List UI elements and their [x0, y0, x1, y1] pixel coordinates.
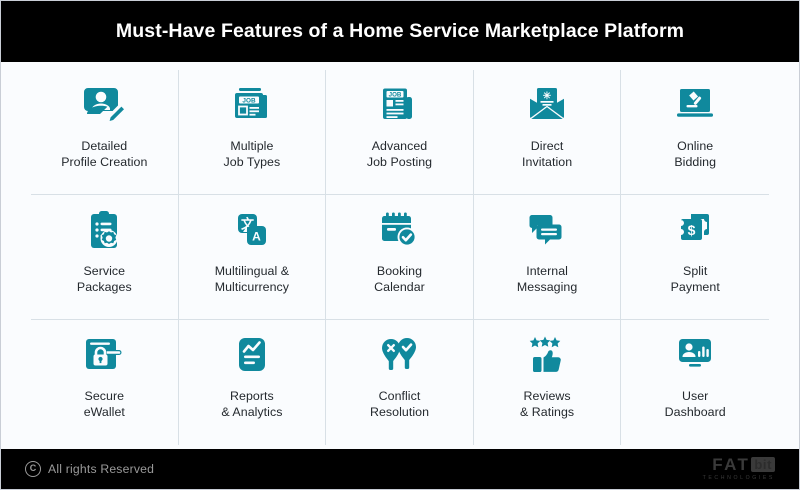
- job-newspaper-icon: JOB: [230, 80, 274, 132]
- feature-cell-internal-messaging[interactable]: Internal Messaging: [474, 195, 622, 320]
- feature-label: Service Packages: [77, 264, 132, 295]
- feature-label: Online Bidding: [674, 139, 716, 170]
- copyright-text: All rights Reserved: [48, 462, 154, 476]
- feature-cell-reviews-ratings[interactable]: Reviews & Ratings: [474, 320, 622, 445]
- page-title: Must-Have Features of a Home Service Mar…: [116, 20, 684, 43]
- invitation-envelope-icon: ✳: [525, 80, 569, 132]
- translate-language-icon: 文 A: [230, 205, 274, 257]
- calendar-check-icon: [376, 205, 422, 257]
- feature-label: Secure eWallet: [84, 389, 125, 420]
- clipboard-gear-icon: [84, 205, 124, 257]
- feature-cell-split-payment[interactable]: $ Split Payment: [621, 195, 769, 320]
- svg-text:A: A: [252, 230, 261, 244]
- poster-header: Must-Have Features of a Home Service Mar…: [1, 1, 799, 62]
- brand-logo-tagline: TECHNOLOGIES: [703, 476, 775, 481]
- copyright-icon: C: [25, 461, 41, 477]
- split-money-cards-icon: $: [673, 205, 717, 257]
- brand-logo-bit: bit: [751, 457, 775, 472]
- feature-label: Split Payment: [671, 264, 720, 295]
- brand-logo-main: FAT bit: [712, 456, 775, 473]
- copyright: C All rights Reserved: [25, 461, 154, 477]
- poster-footer: C All rights Reserved FAT bit TECHNOLOGI…: [1, 449, 799, 489]
- stars-thumbsup-icon: [523, 330, 571, 382]
- feature-cell-reports-analytics[interactable]: Reports & Analytics: [179, 320, 327, 445]
- profile-person-square-pencil-icon: [82, 80, 126, 132]
- svg-text:✳: ✳: [543, 91, 552, 102]
- feature-label: Multilingual & Multicurrency: [215, 264, 289, 295]
- svg-text:JOB: JOB: [389, 92, 402, 99]
- features-grid: Detailed Profile Creation JOB: [31, 70, 769, 445]
- feature-cell-booking-calendar[interactable]: Booking Calendar: [326, 195, 474, 320]
- brand-logo-fat: FAT: [712, 456, 750, 473]
- feature-label: Multiple Job Types: [224, 139, 281, 170]
- laptop-gavel-icon: [672, 80, 718, 132]
- monitor-user-dashboard-icon: [672, 330, 718, 382]
- feature-cell-online-bidding[interactable]: Online Bidding: [621, 70, 769, 195]
- conflict-markers-icon: [376, 330, 422, 382]
- feature-cell-multiple-job-types[interactable]: JOB Multiple Job Types: [179, 70, 327, 195]
- brand-logo: FAT bit TECHNOLOGIES: [703, 456, 775, 481]
- feature-cell-secure-ewallet[interactable]: Secure eWallet: [31, 320, 179, 445]
- feature-cell-user-dashboard[interactable]: User Dashboard: [621, 320, 769, 445]
- feature-cell-detailed-profile-creation[interactable]: Detailed Profile Creation: [31, 70, 179, 195]
- feature-cell-direct-invitation[interactable]: ✳ Direct Invitation: [474, 70, 622, 195]
- feature-label: Reports & Analytics: [221, 389, 282, 420]
- feature-cell-multilingual-multicurrency[interactable]: 文 A Multilingual & Multicurrency: [179, 195, 327, 320]
- svg-text:$: $: [688, 222, 696, 238]
- feature-label: Conflict Resolution: [370, 389, 429, 420]
- feature-cell-advanced-job-posting[interactable]: JOB Advanced Job Posting: [326, 70, 474, 195]
- svg-text:JOB: JOB: [242, 98, 256, 105]
- feature-cell-service-packages[interactable]: Service Packages: [31, 195, 179, 320]
- feature-label: Detailed Profile Creation: [61, 139, 147, 170]
- feature-label: Internal Messaging: [517, 264, 577, 295]
- feature-label: Direct Invitation: [522, 139, 572, 170]
- feature-label: Booking Calendar: [374, 264, 425, 295]
- feature-label: Advanced Job Posting: [367, 139, 432, 170]
- feature-label: User Dashboard: [665, 389, 726, 420]
- infographic-poster: Must-Have Features of a Home Service Mar…: [0, 0, 800, 490]
- job-posting-document-icon: JOB: [377, 80, 421, 132]
- wallet-lock-icon: [81, 330, 127, 382]
- report-chart-document-icon: [232, 330, 272, 382]
- chat-bubbles-icon: [524, 205, 570, 257]
- feature-cell-conflict-resolution[interactable]: Conflict Resolution: [326, 320, 474, 445]
- features-grid-container: Detailed Profile Creation JOB: [1, 62, 799, 449]
- feature-label: Reviews & Ratings: [520, 389, 574, 420]
